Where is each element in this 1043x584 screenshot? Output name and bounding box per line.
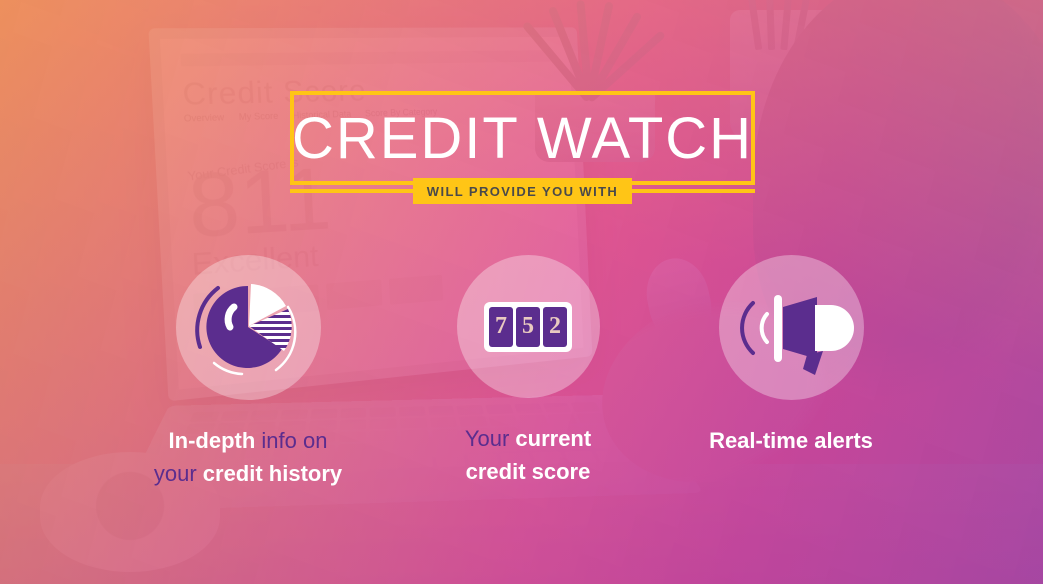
- credit-score-digits-icon: 7 5 2: [484, 302, 572, 352]
- score-digit-1: 5: [516, 307, 540, 347]
- caption-bold-1: In-depth: [169, 428, 256, 453]
- caption-reg-2: your: [154, 461, 203, 486]
- score-digit-2: 2: [543, 307, 567, 347]
- feature-icon-circle: [176, 255, 321, 400]
- feature-caption: In-depth info on your credit history: [133, 424, 363, 490]
- megaphone-icon: [719, 255, 864, 400]
- caption-bold-1: current: [515, 426, 591, 451]
- feature-icon-circle: 7 5 2: [457, 255, 600, 398]
- caption-bold-2: credit history: [203, 461, 342, 486]
- score-digit-0: 7: [489, 307, 513, 347]
- subtitle-ribbon: WILL PROVIDE YOU WITH: [413, 178, 632, 204]
- caption-bold-1: Real-time alerts: [709, 428, 873, 453]
- pie-chart-icon: [176, 255, 321, 400]
- feature-item-credit-history[interactable]: In-depth info on your credit history: [133, 255, 363, 490]
- caption-reg-1: info on: [255, 428, 327, 453]
- caption-reg-1: Your: [465, 426, 516, 451]
- feature-caption: Your current credit score: [413, 422, 643, 488]
- caption-bold-2: credit score: [466, 459, 591, 484]
- slide-canvas: Credit Score Overview My Score Historica…: [0, 0, 1043, 584]
- feature-item-alerts[interactable]: Real-time alerts: [676, 255, 906, 457]
- feature-list: In-depth info on your credit history 7 5…: [0, 255, 1043, 505]
- feature-item-credit-score[interactable]: 7 5 2 Your current credit score: [413, 255, 643, 488]
- feature-caption: Real-time alerts: [676, 424, 906, 457]
- feature-icon-circle: [719, 255, 864, 400]
- page-title: CREDIT WATCH: [290, 91, 755, 185]
